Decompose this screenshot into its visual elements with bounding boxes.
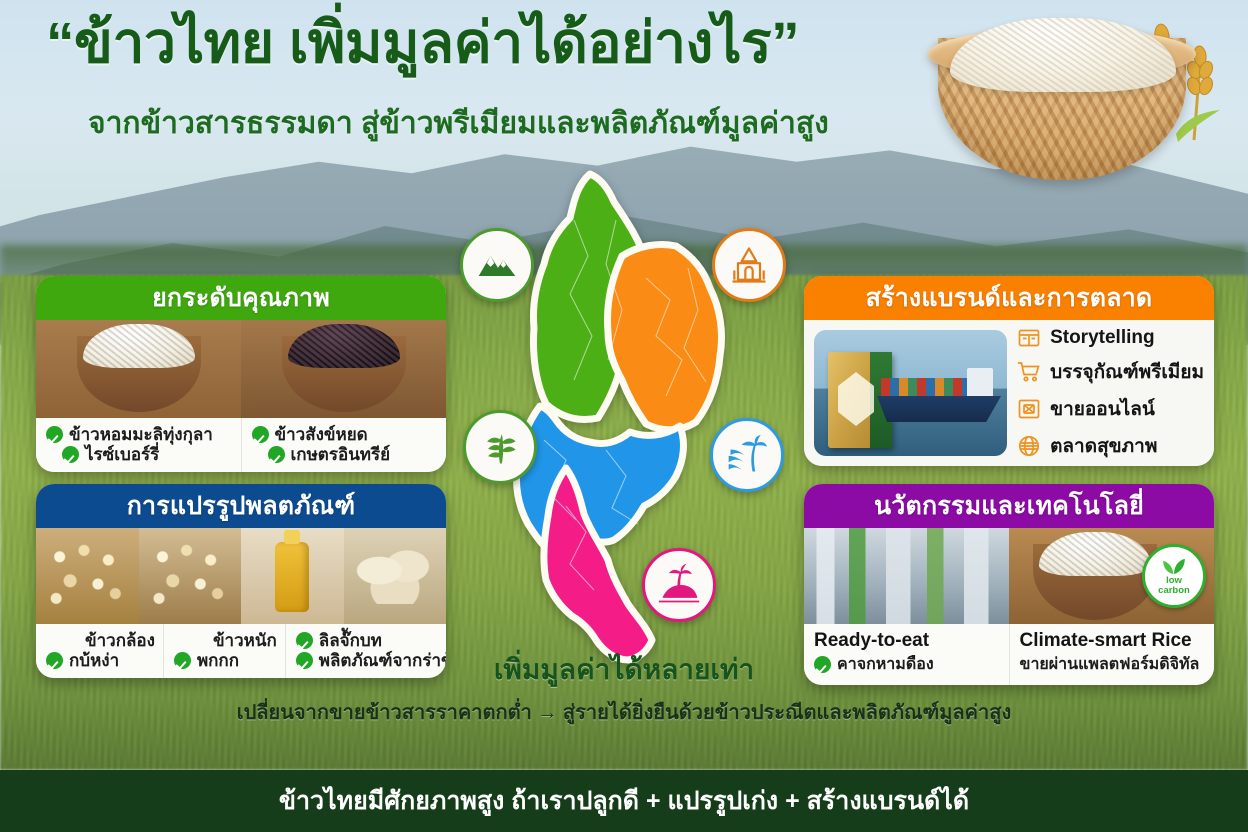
photo-black-rice-bowl: [241, 320, 446, 418]
card-branding-title: สร้างแบรนด์และการตลาด: [804, 276, 1214, 320]
badge-rice-plant: [463, 410, 537, 484]
innovation-col-1: Ready-to-eat คาจกหามดือง: [804, 624, 1009, 685]
ship-bridge: [967, 368, 993, 398]
branding-item-list: Storytelling บรรจุกัณฑ์พรีเมียม: [1017, 330, 1204, 456]
black-rice-grains: [288, 324, 400, 368]
check-icon: [174, 652, 191, 669]
online-shop-screen-icon: [1017, 397, 1041, 421]
list-item-label: ตลาดสุขภาพ: [1050, 431, 1157, 461]
list-item[interactable]: ขายออนไลน์: [1017, 394, 1204, 424]
list-item: ลิลจ๊ักบท: [296, 631, 446, 651]
innovation-title-1: Ready-to-eat: [814, 630, 999, 652]
card-innovation-title: นวัตกรรมและเทคโนโลยี่: [804, 484, 1214, 528]
list-item-label: บรรจุกัณฑ์พรีเมียม: [1050, 357, 1204, 387]
palm-wave-icon: [725, 433, 769, 477]
cracker-stack: [356, 550, 434, 604]
island-palm-icon: [657, 563, 701, 607]
innovation-sub-1: คาจกหามดือง: [837, 652, 934, 677]
innovation-sub-2: ขายผ่านแพลตฟอร์มดิจิทัล: [1020, 652, 1200, 677]
quality-photo-row: [36, 320, 446, 418]
badge-mountain: [460, 228, 534, 302]
check-icon: [814, 656, 831, 673]
list-item-label: ข้าวสังข์หยด: [275, 425, 368, 445]
list-item-label: ข้าวกล้อง: [85, 631, 155, 651]
list-item: กบ้หง่า: [46, 651, 155, 671]
header: “ข้าวไทย เพิ่มมูลค่าได้อย่างไร” จากข้าวส…: [0, 0, 1248, 170]
card-branding[interactable]: สร้างแบรนด์และการตลาด Storytelling: [804, 276, 1214, 466]
photo-rice-crackers: [344, 528, 447, 624]
photo-rice-bran-oil: [241, 528, 344, 624]
list-item: ข้าวหอมมะลิทุ่งกุลา: [46, 425, 233, 445]
footer-text: ข้าวไทยมีศักยภาพสูง ถ้าเราปลูกดี + แปรรู…: [279, 781, 969, 821]
check-icon: [296, 652, 313, 669]
photo-puffed-rice: [36, 528, 139, 624]
badge-palm-wave: [710, 418, 784, 492]
low-carbon-badge: low carbon: [1142, 544, 1206, 608]
check-icon: [268, 446, 285, 463]
white-rice-grains: [1039, 532, 1151, 576]
rice-basket-image: [924, 4, 1244, 186]
wooden-bowl: [282, 336, 406, 412]
quality-col-2: ข้าวสังข์หยด เกษตรอินทรีย์: [241, 418, 447, 472]
globe-icon: [1017, 434, 1041, 458]
wooden-bowl: [77, 336, 201, 412]
processing-col-3: ลิลจ๊ักบท พลิตภัณฑ์จากร่าข้าว: [285, 624, 446, 678]
check-icon: [62, 446, 79, 463]
card-quality[interactable]: ยกระดับคุณภาพ ข้าวหอมมะลิทุ่งกุลา ไรซ์เบ…: [36, 276, 446, 472]
shopping-cart-icon: [1017, 360, 1041, 384]
page-subtitle: จากข้าวสารธรรมดา สู่ข้าวพรีเมียมและพลิตภ…: [88, 100, 988, 147]
story-book-icon: [1017, 326, 1041, 350]
list-item[interactable]: ตลาดสุขภาพ: [1017, 431, 1204, 461]
card-quality-body: ข้าวหอมมะลิทุ่งกุลา ไรซ์เบอร์รี่ ข้าวสัง…: [36, 320, 446, 472]
quality-captions: ข้าวหอมมะลิทุ่งกุลา ไรซ์เบอร์รี่ ข้าวสัง…: [36, 418, 446, 472]
page-title: “ข้าวไทย เพิ่มมูลค่าได้อย่างไร”: [46, 14, 976, 74]
cargo-ship: [877, 364, 1001, 422]
bottom-subline: เปลี่ยนจากขายข้าวสารราคาตกต่ำ → สู่รายได…: [0, 692, 1248, 728]
check-icon: [46, 652, 63, 669]
card-processing[interactable]: การแปรรูปพลตภัณฑ์ ข้าวกล้อง กบ้หง่า: [36, 484, 446, 678]
card-innovation[interactable]: นวัตกรรมและเทคโนโลยี่ low carbon Ready-t…: [804, 484, 1214, 685]
list-item[interactable]: Storytelling: [1017, 326, 1204, 350]
card-innovation-body: low carbon Ready-to-eat คาจกหามดือง Clim…: [804, 528, 1214, 685]
processing-col-1: ข้าวกล้อง กบ้หง่า: [36, 624, 163, 678]
list-item: พกกก: [174, 651, 277, 671]
oil-bottle: [275, 542, 309, 612]
processing-photo-row: [36, 528, 446, 624]
list-item: เกษตรอินทรีย์: [252, 445, 439, 465]
map-region-northeast: [608, 244, 722, 429]
wooden-bowl: [1033, 544, 1157, 620]
list-item: ข้าวหนัก: [174, 631, 277, 651]
check-icon: [46, 426, 63, 443]
ship-hull: [877, 396, 1001, 422]
list-item-label: พกกก: [197, 651, 239, 671]
card-processing-body: ข้าวกล้อง กบ้หง่า ข้าวหนัก พกกก: [36, 528, 446, 678]
list-item: คาจกหามดือง: [814, 652, 999, 677]
puffed-rice-texture: [44, 536, 131, 616]
innovation-col-2: Climate-smart Rice ขายผ่านแพลตฟอร์มดิจิท…: [1009, 624, 1215, 685]
white-rice-grains: [83, 324, 195, 368]
list-item: ไรซ์เบอร์รี่: [46, 445, 233, 465]
processing-col-2: ข้าวหนัก พกกก: [163, 624, 285, 678]
list-item[interactable]: บรรจุกัณฑ์พรีเมียม: [1017, 357, 1204, 387]
check-icon: [252, 426, 269, 443]
leaf-icon: [1161, 557, 1187, 575]
photo-granola: [139, 528, 242, 624]
list-item-label: Storytelling: [1050, 327, 1155, 349]
innovation-title-2: Climate-smart Rice: [1020, 630, 1205, 652]
list-item-label: เกษตรอินทรีย์: [291, 445, 391, 465]
list-item: ขายผ่านแพลตฟอร์มดิจิทัล: [1020, 652, 1205, 677]
innovation-captions: Ready-to-eat คาจกหามดือง Climate-smart R…: [804, 624, 1214, 685]
list-item-label: ข้าวหอมมะลิทุ่งกุลา: [69, 425, 213, 445]
list-item-label: ลิลจ๊ักบท: [319, 631, 382, 651]
badge-temple: [712, 228, 786, 302]
mountain-icon: [475, 243, 519, 287]
card-processing-title: การแปรรูปพลตภัณฑ์: [36, 484, 446, 528]
photo-rice-mill-factory: [804, 528, 1009, 624]
footer-bar: ข้าวไทยมีศักยภาพสูง ถ้าเราปลูกดี + แปรรู…: [0, 770, 1248, 832]
list-item: พลิตภัณฑ์จากร่าข้าว: [296, 651, 446, 671]
list-item-label: ข้าวหนัก: [213, 631, 277, 651]
list-item-label: พลิตภัณฑ์จากร่าข้าว: [319, 651, 446, 671]
photo-package-and-ship: [814, 330, 1007, 456]
rice-plant-icon: [478, 425, 522, 469]
check-icon: [296, 632, 313, 649]
processing-captions: ข้าวกล้อง กบ้หง่า ข้าวหนัก พกกก: [36, 624, 446, 678]
badge-island: [642, 548, 716, 622]
card-quality-title: ยกระดับคุณภาพ: [36, 276, 446, 320]
quality-col-1: ข้าวหอมมะลิทุ่งกุลา ไรซ์เบอร์รี่: [36, 418, 241, 472]
granola-texture: [147, 536, 234, 616]
temple-icon: [727, 243, 771, 287]
card-branding-body: Storytelling บรรจุกัณฑ์พรีเมียม: [804, 320, 1214, 466]
photo-white-rice-bowl: [36, 320, 241, 418]
list-item-label: ขายออนไลน์: [1050, 394, 1155, 424]
list-item-label: กบ้หง่า: [69, 651, 119, 671]
list-item: ข้าวกล้อง: [46, 631, 155, 651]
list-item: ข้าวสังข์หยด: [252, 425, 439, 445]
list-item-label: ไรซ์เบอร์รี่: [85, 445, 159, 465]
low-carbon-line2: carbon: [1158, 586, 1190, 596]
